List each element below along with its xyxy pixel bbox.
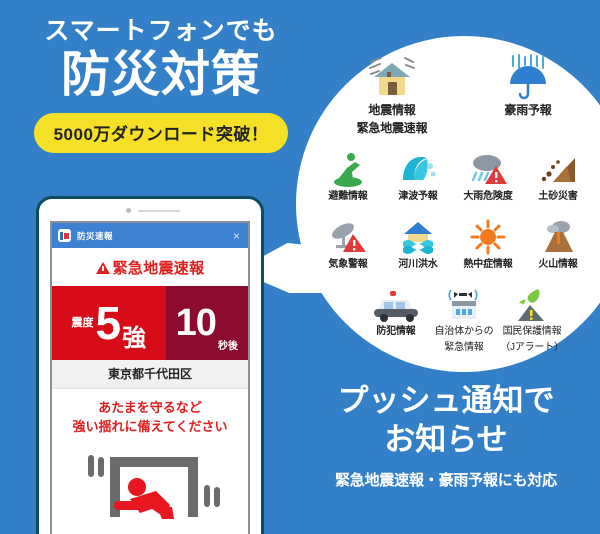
push-subtitle: 緊急地震速報・豪雨予報にも対応 xyxy=(300,469,592,490)
heavy-rain-warning-icon xyxy=(456,146,520,188)
headline-block: スマートフォンでも 防災対策 5000万ダウンロード突破！ xyxy=(26,18,296,153)
download-badge-wrap: 5000万ダウンロード突破！ xyxy=(26,113,296,153)
icon-item-municipal-alert[interactable]: 自治体からの 緊急情報 xyxy=(432,281,496,354)
service-icon-grid: 地震情報 緊急地震速報 豪雨予報 xyxy=(300,52,600,372)
icon-item-tsunami[interactable]: 津波予報 xyxy=(386,146,450,204)
icon-item-river-flood[interactable]: 河川洪水 xyxy=(386,214,450,272)
app-logo-icon xyxy=(58,229,71,242)
icon-item-crime-prevention[interactable]: 防犯情報 xyxy=(364,281,428,354)
j-alert-japan-map-icon xyxy=(500,281,564,323)
icon-label-j-alert-line1: 国民保護情報 xyxy=(500,326,564,339)
icon-label-earthquake-line2: 緊急地震速報 xyxy=(346,121,438,136)
alert-location: 東京都千代田区 xyxy=(52,360,248,389)
icon-label-landslide: 土砂災害 xyxy=(526,191,590,204)
icon-label-municipal-alert-line1: 自治体からの xyxy=(432,326,496,339)
notification-app-name: 防災速報 xyxy=(77,230,113,242)
icon-item-j-alert[interactable]: 国民保護情報 （Jアラート） xyxy=(500,281,564,354)
evacuation-running-person-icon xyxy=(316,146,380,188)
advice-line-1: あたまを守るなど xyxy=(56,399,244,418)
countdown-value: 10 xyxy=(176,304,216,342)
seismic-value: 5 xyxy=(96,300,121,346)
icon-item-rain-risk[interactable]: 大雨危険度 xyxy=(456,146,520,204)
police-car-icon xyxy=(364,281,428,323)
countdown-panel: 10 秒後 xyxy=(166,286,248,360)
umbrella-rain-icon xyxy=(482,52,574,100)
speaker-grille-icon xyxy=(138,210,180,212)
icon-label-heatstroke: 熱中症情報 xyxy=(456,259,520,272)
icon-label-municipal-alert-line2: 緊急情報 xyxy=(432,342,496,355)
alert-advice: あたまを守るなど 強い揺れに備えてください xyxy=(52,389,248,441)
alert-heading-label: 緊急地震速報 xyxy=(113,257,205,278)
person-under-desk-icon xyxy=(52,443,248,534)
notification-header: 防災速報 × xyxy=(52,223,248,248)
icon-label-tsunami: 津波予報 xyxy=(386,191,450,204)
icon-item-evacuation[interactable]: 避難情報 xyxy=(316,146,380,204)
municipal-speaker-building-icon xyxy=(432,281,496,323)
icon-label-evacuation: 避難情報 xyxy=(316,191,380,204)
alert-measure-row: 震度 5 強 10 秒後 xyxy=(52,286,248,360)
icon-label-river-flood: 河川洪水 xyxy=(386,259,450,272)
icon-item-earthquake[interactable]: 地震情報 緊急地震速報 xyxy=(346,52,438,136)
icon-label-crime-prevention: 防犯情報 xyxy=(364,326,428,339)
icon-item-weather-warning[interactable]: 気象警報 xyxy=(316,214,380,272)
weather-radar-warning-icon xyxy=(316,214,380,256)
seismic-suffix: 強 xyxy=(122,318,146,360)
shaking-house-icon xyxy=(346,52,438,100)
phone-mockup: 防災速報 × 緊急地震速報 震度 5 強 10 秒後 東京都千代田区 xyxy=(36,196,264,534)
countdown-unit: 秒後 xyxy=(218,337,238,360)
icon-label-weather-warning: 気象警報 xyxy=(316,259,380,272)
push-main-line-2: お知らせ xyxy=(300,421,592,460)
volcano-icon xyxy=(526,214,590,256)
icon-row-1: 地震情報 緊急地震速報 豪雨予報 xyxy=(320,52,600,136)
seismic-label: 震度 xyxy=(72,317,94,329)
icon-row-3: 気象警報 河川洪水 xyxy=(306,214,600,272)
icon-row-4: 防犯情報 xyxy=(328,281,600,354)
icon-row-2: 避難情報 津波予報 xyxy=(306,146,600,204)
icon-item-heatstroke[interactable]: 熱中症情報 xyxy=(456,214,520,272)
tsunami-wave-icon xyxy=(386,146,450,188)
icon-label-j-alert-line2: （Jアラート） xyxy=(500,342,564,355)
camera-icon xyxy=(126,208,131,213)
close-icon[interactable]: × xyxy=(233,230,242,242)
icon-item-volcano[interactable]: 火山情報 xyxy=(526,214,590,272)
sun-heatstroke-icon xyxy=(456,214,520,256)
icon-label-volcano: 火山情報 xyxy=(526,259,590,272)
river-flood-icon xyxy=(386,214,450,256)
icon-label-heavy-rain-forecast: 豪雨予報 xyxy=(482,103,574,118)
alert-heading: 緊急地震速報 xyxy=(52,248,248,286)
phone-top-bar xyxy=(39,199,261,219)
poster-canvas: スマートフォンでも 防災対策 5000万ダウンロード突破！ 防災速報 × 緊急地… xyxy=(0,0,600,534)
icon-label-earthquake-line1: 地震情報 xyxy=(346,103,438,118)
phone-screen: 防災速報 × 緊急地震速報 震度 5 強 10 秒後 東京都千代田区 xyxy=(50,221,250,534)
headline-title: 防災対策 xyxy=(26,48,296,103)
icon-label-rain-risk: 大雨危険度 xyxy=(456,191,520,204)
icon-item-heavy-rain-forecast[interactable]: 豪雨予報 xyxy=(482,52,574,136)
download-count-badge: 5000万ダウンロード突破！ xyxy=(34,113,289,153)
headline-subtitle: スマートフォンでも xyxy=(26,18,296,46)
seismic-intensity-panel: 震度 5 強 xyxy=(52,286,166,360)
warning-triangle-icon xyxy=(96,262,110,274)
icon-item-landslide[interactable]: 土砂災害 xyxy=(526,146,590,204)
advice-line-2: 強い揺れに備えてください xyxy=(56,418,244,437)
landslide-icon xyxy=(526,146,590,188)
push-text-block: プッシュ通知で お知らせ 緊急地震速報・豪雨予報にも対応 xyxy=(300,382,592,490)
push-main-line-1: プッシュ通知で xyxy=(300,382,592,421)
